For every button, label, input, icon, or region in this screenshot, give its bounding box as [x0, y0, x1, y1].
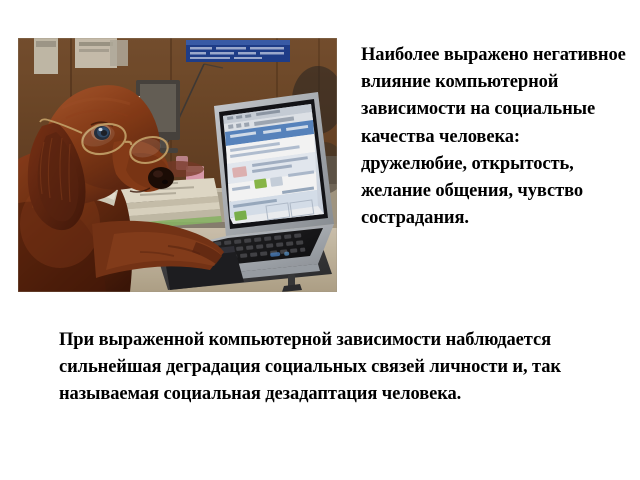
- dog-at-laptop-photo: [18, 38, 337, 292]
- presentation-slide: Наиболее выражено негативное влияние ком…: [0, 0, 640, 480]
- photo-illustration: [18, 38, 337, 292]
- right-paragraph: Наиболее выражено негативное влияние ком…: [361, 42, 629, 232]
- bottom-paragraph: При выраженной компьютерной зависимости …: [59, 327, 589, 409]
